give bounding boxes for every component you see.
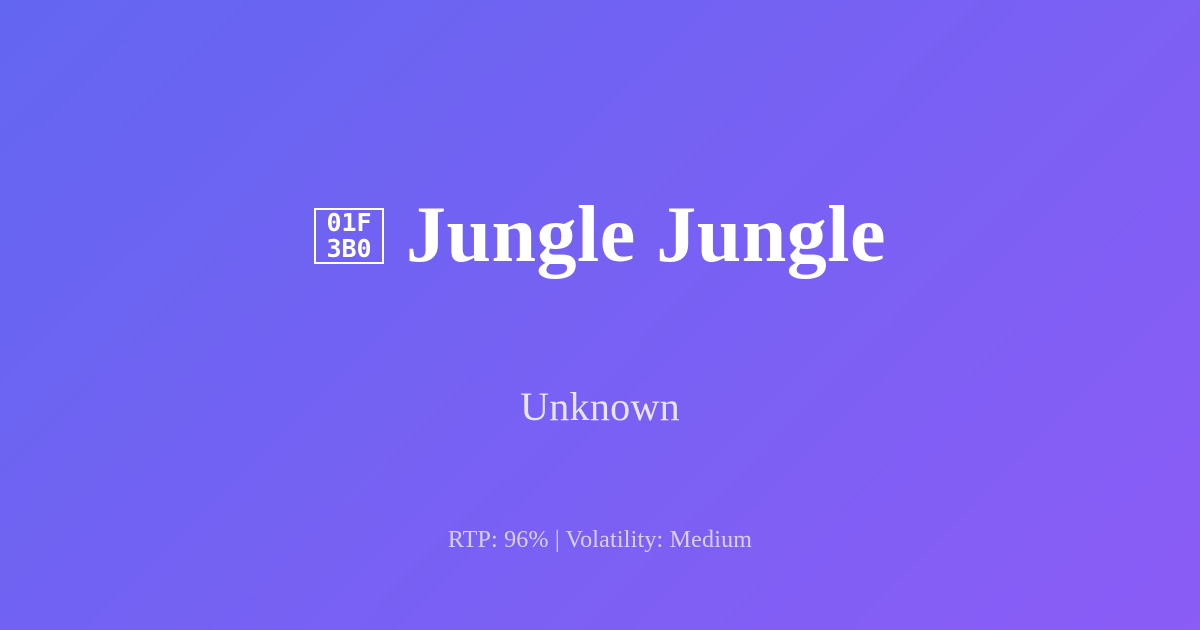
- og-card: 01F 3B0 Jungle Jungle Unknown RTP: 96% |…: [0, 0, 1200, 630]
- provider-label: Unknown: [520, 387, 680, 427]
- game-title-row: 01F 3B0 Jungle Jungle: [314, 141, 886, 328]
- game-meta-text: RTP: 96% | Volatility: Medium: [448, 527, 752, 553]
- game-meta-line: RTP: 96% | Volatility: Medium: [0, 528, 1200, 552]
- tofu-codepoint-top: 01F: [326, 210, 371, 236]
- tofu-codepoint-bottom: 3B0: [326, 236, 371, 262]
- page-title: Jungle Jungle: [406, 195, 886, 275]
- slot-machine-icon: 01F 3B0: [314, 208, 384, 264]
